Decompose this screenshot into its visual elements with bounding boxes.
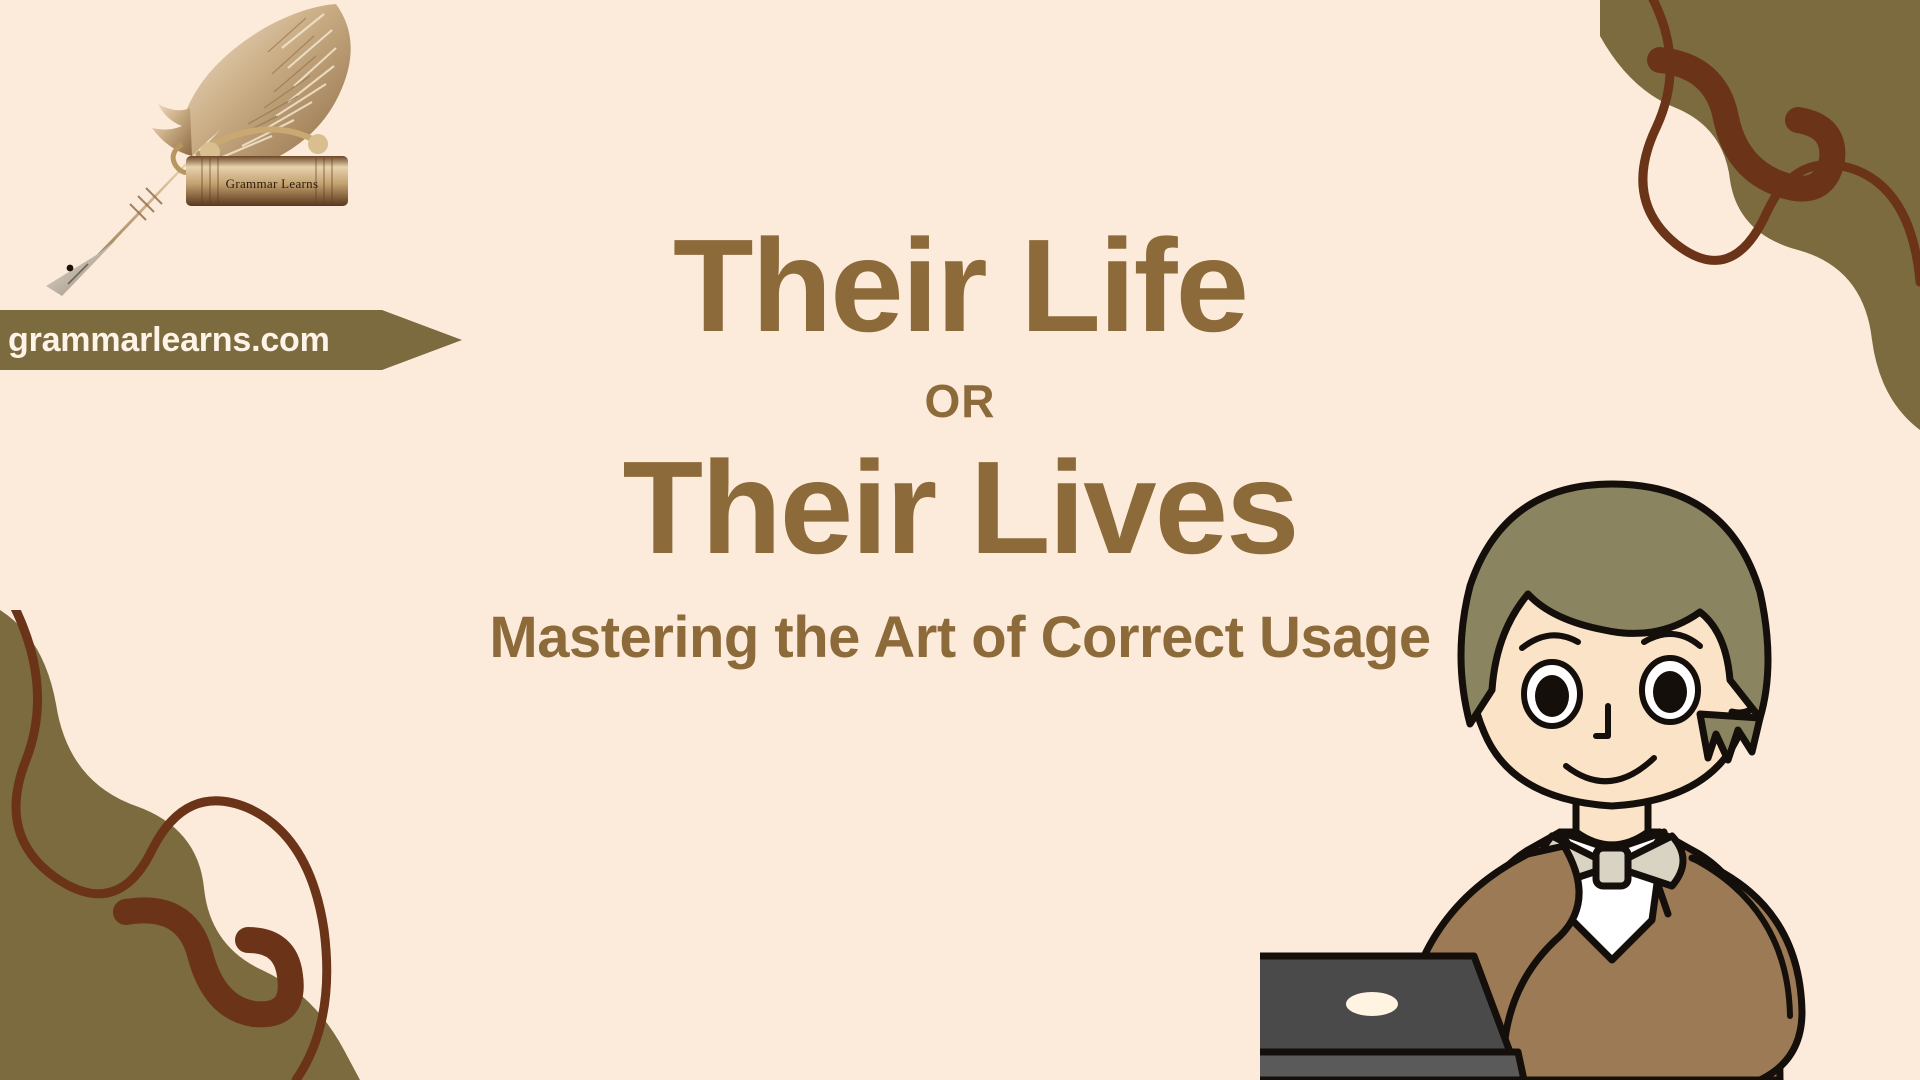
pen-engraving-label: Grammar Learns <box>212 176 332 192</box>
website-url-banner[interactable]: grammarlearns.com <box>0 310 462 370</box>
bottom-left-decoration <box>0 610 460 1080</box>
title-conjunction: OR <box>300 378 1620 424</box>
headline-block: Their Life OR Their Lives Mastering the … <box>300 220 1620 669</box>
title-secondary: Their Lives <box>300 442 1620 574</box>
poster-canvas: Grammar Learns grammarlearns.com Their L… <box>0 0 1920 1080</box>
website-url-label: grammarlearns.com <box>8 310 330 370</box>
subtitle: Mastering the Art of Correct Usage <box>300 608 1620 669</box>
title-primary: Their Life <box>300 220 1620 352</box>
